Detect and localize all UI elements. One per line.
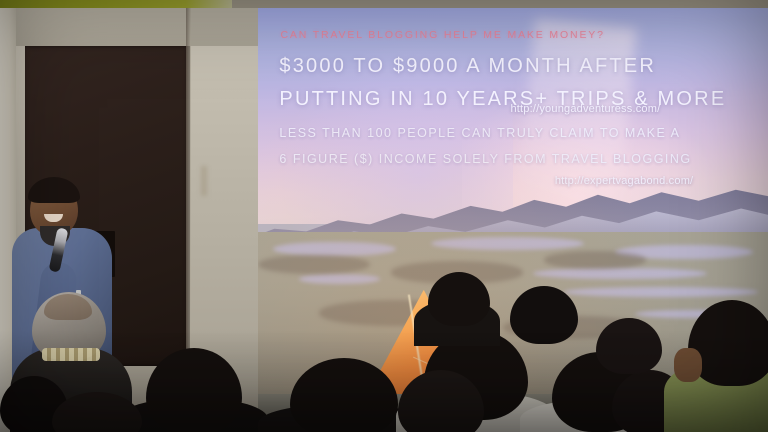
audience-head: [596, 318, 662, 374]
wall-header-band: [14, 8, 266, 46]
presentation-photo-scene: CAN TRAVEL BLOGGING HELP ME MAKE MONEY? …: [0, 0, 768, 432]
audience-head: [428, 272, 490, 326]
ceiling-green-strip: [0, 0, 232, 8]
elder-patterned-collar: [42, 348, 100, 361]
audience-raised-hand: [674, 348, 702, 382]
audience-head: [510, 286, 578, 344]
door-highlight: [201, 166, 207, 196]
